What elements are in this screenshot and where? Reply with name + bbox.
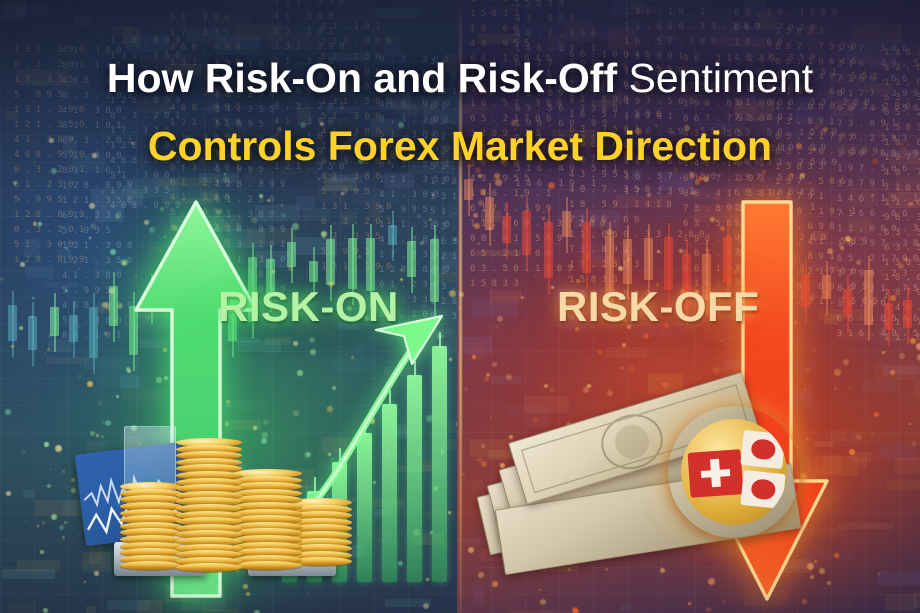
banner-canvas: 1 3 1 . 3 9 0 0 , 3 . 2 0 1 1 7 . 3 3 5 … xyxy=(0,0,920,613)
japan-flag-icon xyxy=(741,470,787,509)
coin-stack-tall xyxy=(176,438,242,580)
title-block: How Risk-On and Risk-Off Sentiment Contr… xyxy=(0,54,920,170)
title-line-1-bold: How Risk-On and Risk-Off xyxy=(107,55,617,101)
coin-stack-right xyxy=(290,498,352,574)
risk-on-label: RISK-ON xyxy=(218,283,399,331)
title-line-2: Controls Forex Market Direction xyxy=(0,122,920,170)
coin-stack-left xyxy=(120,482,182,578)
gold-coin-stack-group xyxy=(72,392,302,582)
safe-haven-currency-medal-icon xyxy=(668,406,800,538)
us-dollar-bills-group xyxy=(478,388,808,578)
swiss-flag-icon xyxy=(688,449,744,497)
risk-off-label: RISK-OFF xyxy=(557,283,759,331)
title-line-1: How Risk-On and Risk-Off Sentiment xyxy=(0,54,920,102)
title-line-1-light: Sentiment xyxy=(617,55,813,101)
coin-stack-center xyxy=(232,469,302,578)
medal-face xyxy=(681,419,787,525)
japan-flag-icon xyxy=(741,430,787,469)
